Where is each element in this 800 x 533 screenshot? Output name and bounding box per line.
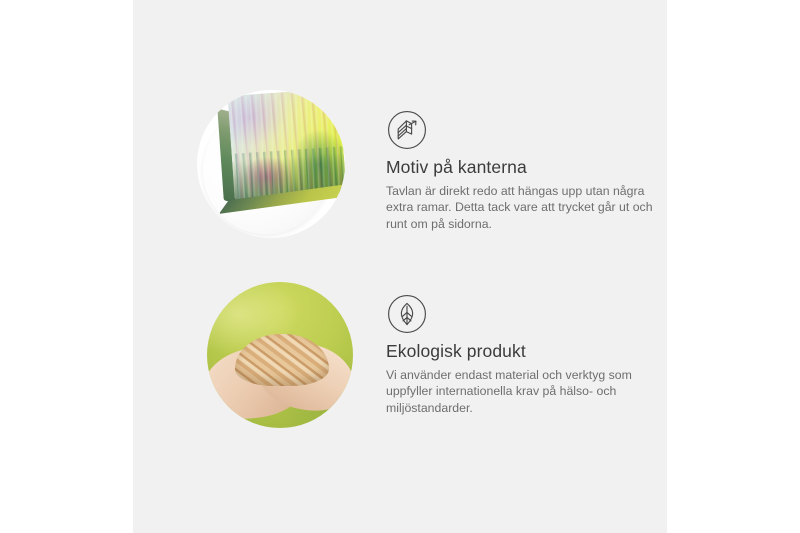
product-feature-panel: Motiv på kanterna Tavlan är direkt redo …: [0, 0, 800, 533]
wood-chips-pile: [235, 334, 329, 386]
feature-title: Ekologisk produkt: [386, 341, 658, 362]
canvas-block: [228, 90, 345, 200]
feature-text-eco: Ekologisk produkt Vi använder endast mat…: [386, 341, 658, 416]
feature-text-canvas-edges: Motiv på kanterna Tavlan är direkt redo …: [386, 157, 658, 232]
canvas-wrapped-edge-icon: [387, 110, 427, 150]
content-band: Motiv på kanterna Tavlan är direkt redo …: [133, 0, 667, 533]
canvas-printed-face: [228, 90, 345, 200]
feature-row-canvas-edges: Motiv på kanterna Tavlan är direkt redo …: [133, 78, 667, 253]
leaf-icon: [387, 294, 427, 334]
feature-title: Motiv på kanterna: [386, 157, 658, 178]
feature-description: Vi använder endast material och verktyg …: [386, 367, 658, 416]
canvas-corner-photo: [197, 90, 345, 238]
feature-row-eco: Ekologisk produkt Vi använder endast mat…: [133, 270, 667, 445]
cupped-hands: [207, 334, 353, 422]
hands-wood-chips-photo: [207, 282, 353, 428]
feature-description: Tavlan är direkt redo att hängas upp uta…: [386, 183, 658, 232]
